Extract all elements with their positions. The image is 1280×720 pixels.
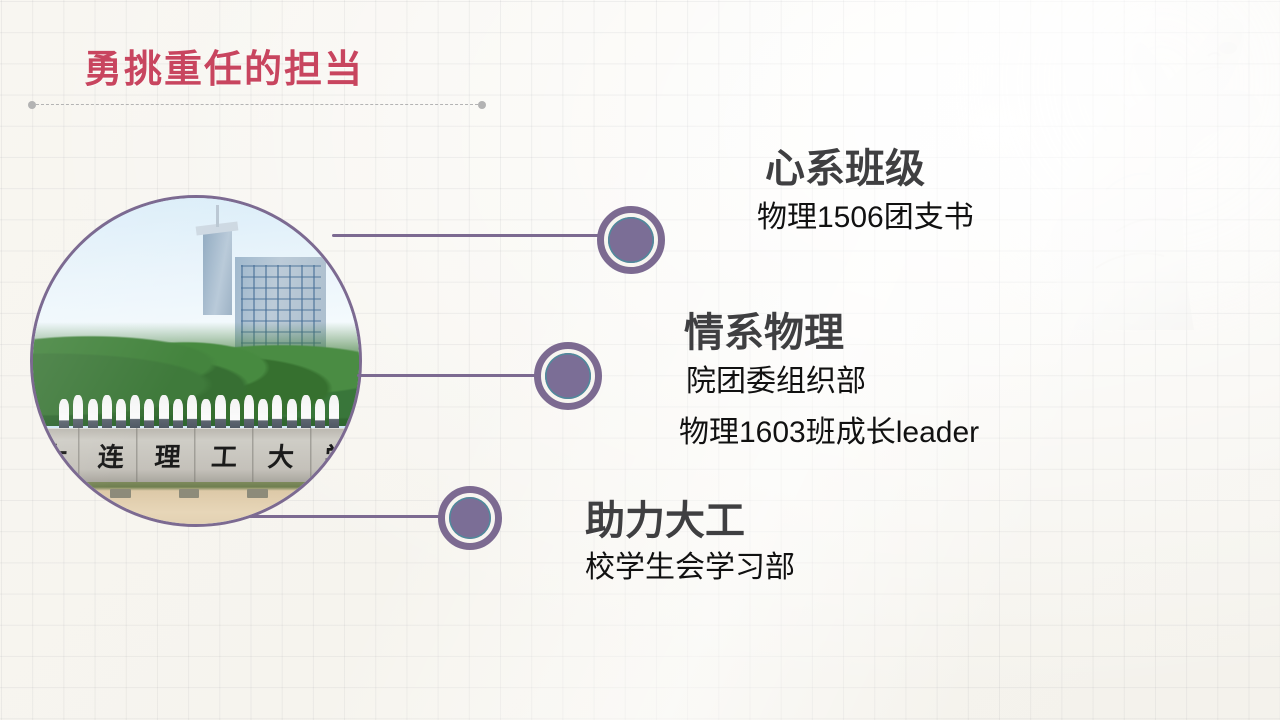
title-divider (28, 101, 486, 109)
wall-char: 大 (40, 437, 69, 474)
photo-campus-wall: 大 连 理 工 大 学 (30, 428, 362, 483)
photo-scene: 大 连 理 工 大 学 (33, 198, 359, 524)
photo-benches (41, 489, 337, 498)
circular-photo: 大 连 理 工 大 学 (30, 195, 362, 527)
item-2-heading: 情系物理 (684, 312, 979, 355)
divider-dot-right (478, 101, 486, 109)
wall-char: 工 (210, 437, 239, 474)
connector-line-2 (357, 374, 539, 377)
connector-line-1 (332, 234, 602, 237)
bullet-core-1 (608, 217, 654, 263)
photo-ground (30, 482, 362, 527)
item-1-heading: 心系班级 (765, 148, 974, 191)
wall-char: 学 (323, 437, 352, 474)
bullet-core-2 (545, 353, 591, 399)
slide-canvas: 勇挑重任的担当 大 连 理 工 (0, 0, 1280, 720)
bullet-core-3 (449, 497, 491, 539)
page-title: 勇挑重任的担当 (84, 38, 364, 93)
list-item-1: 心系班级 物理1506团支书 (757, 148, 974, 238)
list-item-2: 情系物理 院团委组织部 物理1603班成长leader (679, 312, 979, 452)
wall-char: 连 (97, 437, 126, 474)
photo-wall-calligraphy: 大 连 理 工 大 学 (30, 428, 362, 483)
wall-char: 大 (267, 437, 296, 474)
photo-tower (203, 231, 232, 316)
item-2-line-1: 院团委组织部 (686, 363, 979, 401)
item-3-heading: 助力大工 (585, 500, 795, 543)
item-2-line-2: 物理1603班成长leader (679, 414, 979, 452)
list-item-3: 助力大工 校学生会学习部 (585, 500, 795, 588)
divider-dot-left (28, 101, 36, 109)
wall-char: 理 (153, 437, 182, 474)
bullet-marker-2[interactable] (534, 342, 602, 410)
connector-line-3 (249, 515, 445, 518)
photo-students-row (59, 394, 339, 433)
bullet-marker-1[interactable] (597, 206, 665, 274)
divider-dashed-line (36, 104, 478, 105)
item-1-line-1: 物理1506团支书 (757, 199, 974, 237)
item-3-line-1: 校学生会学习部 (585, 549, 795, 587)
bullet-marker-3[interactable] (438, 486, 502, 550)
